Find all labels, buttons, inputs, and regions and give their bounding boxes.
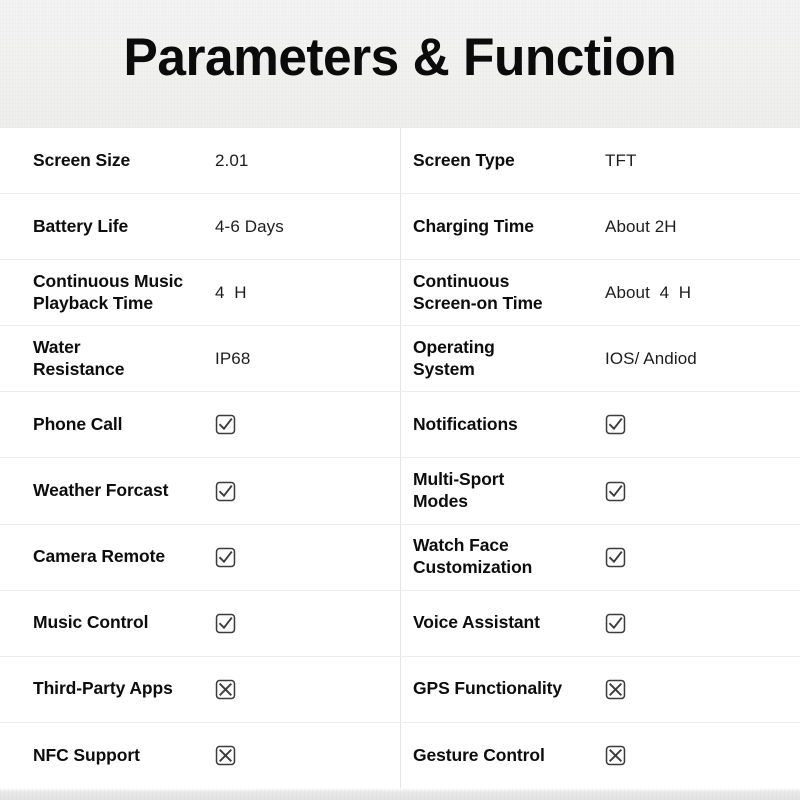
spec-value: About 2H bbox=[605, 216, 677, 237]
spec-cell-gesture-control: Gesture Control bbox=[400, 723, 800, 788]
checkbox-checked-icon[interactable] bbox=[215, 547, 236, 568]
spec-value: IP68 bbox=[215, 348, 250, 369]
spec-cell-water-resistance: Water ResistanceIP68 bbox=[0, 326, 400, 391]
checkbox-checked-icon[interactable] bbox=[605, 547, 626, 568]
spec-checkbox-third-party-apps[interactable] bbox=[215, 679, 236, 700]
checkbox-checked-icon[interactable] bbox=[605, 613, 626, 634]
spec-cell-charging-time: Charging TimeAbout 2H bbox=[400, 194, 800, 259]
spec-cell-phone-call: Phone Call bbox=[0, 392, 400, 457]
spec-cell-screen-type: Screen TypeTFT bbox=[400, 128, 800, 193]
spec-cell-continuous-screen-on-time: Continuous Screen-on TimeAbout 4 H bbox=[400, 260, 800, 325]
spec-cell-continuous-music-playback-time: Continuous Music Playback Time4 H bbox=[0, 260, 400, 325]
spec-value: TFT bbox=[605, 150, 636, 171]
table-row: Music ControlVoice Assistant bbox=[0, 591, 800, 657]
spec-checkbox-weather-forcast[interactable] bbox=[215, 481, 236, 502]
spec-value: 4 H bbox=[215, 282, 247, 303]
table-row: Camera RemoteWatch Face Customization bbox=[0, 525, 800, 591]
spec-label: Music Control bbox=[33, 612, 215, 634]
spec-cell-screen-size: Screen Size2.01 bbox=[0, 128, 400, 193]
spec-label: Camera Remote bbox=[33, 546, 215, 568]
spec-label: Watch Face Customization bbox=[413, 535, 605, 578]
spec-cell-music-control: Music Control bbox=[0, 591, 400, 656]
spec-cell-multi-sport-modes: Multi-Sport Modes bbox=[400, 458, 800, 523]
spec-label: Weather Forcast bbox=[33, 480, 215, 502]
table-row: Battery Life4-6 DaysCharging TimeAbout 2… bbox=[0, 194, 800, 260]
spec-checkbox-voice-assistant[interactable] bbox=[605, 613, 626, 634]
checkbox-checked-icon[interactable] bbox=[605, 414, 626, 435]
checkbox-checked-icon[interactable] bbox=[215, 613, 236, 634]
spec-label: Third-Party Apps bbox=[33, 678, 215, 700]
table-row: Screen Size2.01Screen TypeTFT bbox=[0, 128, 800, 194]
spec-cell-third-party-apps: Third-Party Apps bbox=[0, 657, 400, 722]
spec-cell-voice-assistant: Voice Assistant bbox=[400, 591, 800, 656]
spec-label: Water Resistance bbox=[33, 337, 215, 380]
spec-value: About 4 H bbox=[605, 282, 691, 303]
checkbox-crossed-icon[interactable] bbox=[215, 679, 236, 700]
spec-label: Continuous Music Playback Time bbox=[33, 271, 215, 314]
spec-cell-weather-forcast: Weather Forcast bbox=[0, 458, 400, 523]
spec-checkbox-gps-functionality[interactable] bbox=[605, 679, 626, 700]
spec-cell-watch-face-customization: Watch Face Customization bbox=[400, 525, 800, 590]
bottom-edge-strip bbox=[0, 788, 800, 800]
spec-cell-battery-life: Battery Life4-6 Days bbox=[0, 194, 400, 259]
spec-label: Notifications bbox=[413, 414, 605, 436]
spec-value: 4-6 Days bbox=[215, 216, 284, 237]
table-row: Continuous Music Playback Time4 HContinu… bbox=[0, 260, 800, 326]
table-row: Phone CallNotifications bbox=[0, 392, 800, 458]
spec-cell-notifications: Notifications bbox=[400, 392, 800, 457]
spec-label: Voice Assistant bbox=[413, 612, 605, 634]
checkbox-checked-icon[interactable] bbox=[605, 481, 626, 502]
page-title: Parameters & Function bbox=[124, 31, 677, 84]
page-header: Parameters & Function bbox=[0, 0, 800, 128]
spec-label: Screen Size bbox=[33, 150, 215, 172]
checkbox-crossed-icon[interactable] bbox=[215, 745, 236, 766]
spec-value: IOS/ Andiod bbox=[605, 348, 697, 369]
spec-label: Screen Type bbox=[413, 150, 605, 172]
spec-checkbox-nfc-support[interactable] bbox=[215, 745, 236, 766]
spec-checkbox-notifications[interactable] bbox=[605, 414, 626, 435]
spec-label: Continuous Screen-on Time bbox=[413, 271, 605, 314]
spec-label: Gesture Control bbox=[413, 745, 605, 767]
spec-cell-nfc-support: NFC Support bbox=[0, 723, 400, 788]
specifications-table: Screen Size2.01Screen TypeTFTBattery Lif… bbox=[0, 128, 800, 788]
spec-label: Charging Time bbox=[413, 216, 605, 238]
spec-label: Operating System bbox=[413, 337, 605, 380]
checkbox-crossed-icon[interactable] bbox=[605, 679, 626, 700]
checkbox-checked-icon[interactable] bbox=[215, 414, 236, 435]
spec-checkbox-multi-sport-modes[interactable] bbox=[605, 481, 626, 502]
spec-cell-operating-system: Operating SystemIOS/ Andiod bbox=[400, 326, 800, 391]
spec-value: 2.01 bbox=[215, 150, 249, 171]
spec-checkbox-camera-remote[interactable] bbox=[215, 547, 236, 568]
table-row: Third-Party AppsGPS Functionality bbox=[0, 657, 800, 723]
table-row: Weather ForcastMulti-Sport Modes bbox=[0, 458, 800, 524]
spec-checkbox-phone-call[interactable] bbox=[215, 414, 236, 435]
spec-label: Multi-Sport Modes bbox=[413, 469, 605, 512]
checkbox-checked-icon[interactable] bbox=[215, 481, 236, 502]
spec-cell-gps-functionality: GPS Functionality bbox=[400, 657, 800, 722]
spec-label: Battery Life bbox=[33, 216, 215, 238]
spec-sheet-page: Parameters & Function Screen Size2.01Scr… bbox=[0, 0, 800, 800]
spec-label: GPS Functionality bbox=[413, 678, 605, 700]
table-row: NFC SupportGesture Control bbox=[0, 723, 800, 788]
spec-checkbox-watch-face-customization[interactable] bbox=[605, 547, 626, 568]
checkbox-crossed-icon[interactable] bbox=[605, 745, 626, 766]
spec-checkbox-music-control[interactable] bbox=[215, 613, 236, 634]
spec-label: NFC Support bbox=[33, 745, 215, 767]
spec-label: Phone Call bbox=[33, 414, 215, 436]
spec-checkbox-gesture-control[interactable] bbox=[605, 745, 626, 766]
table-row: Water ResistanceIP68Operating SystemIOS/… bbox=[0, 326, 800, 392]
spec-cell-camera-remote: Camera Remote bbox=[0, 525, 400, 590]
